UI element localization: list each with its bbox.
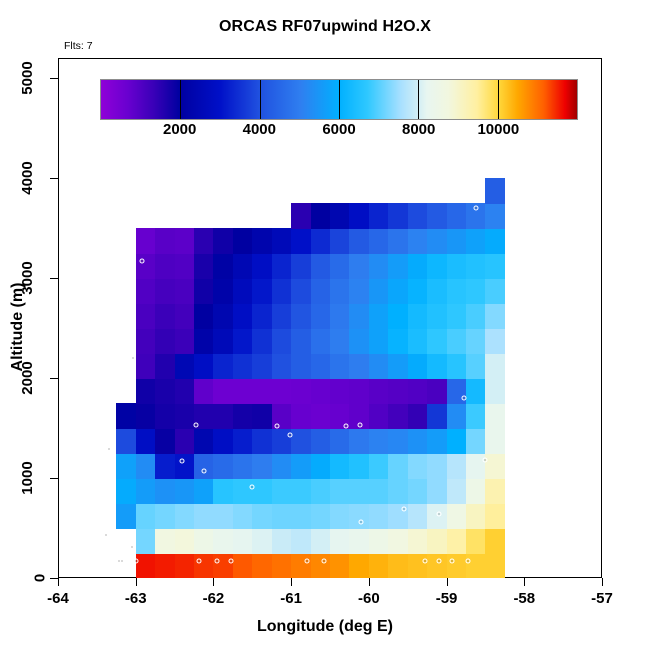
heatmap-cell: [136, 478, 156, 504]
heatmap-cell: [485, 178, 505, 204]
heatmap-cell: [252, 228, 272, 254]
heatmap-cell: [311, 378, 331, 404]
heatmap-cell: [233, 403, 253, 429]
heatmap-cell: [233, 253, 253, 279]
x-tick-mark: [58, 578, 59, 586]
heatmap-cell: [175, 503, 195, 529]
heatmap-cell: [311, 453, 331, 479]
colorbar: 200040006000800010000: [100, 79, 578, 120]
heatmap-cell: [408, 453, 428, 479]
heatmap-cell: [388, 353, 408, 379]
heatmap-cell: [291, 203, 311, 229]
heatmap-cell: [408, 203, 428, 229]
heatmap-cell: [408, 328, 428, 354]
heatmap-cell: [136, 278, 156, 304]
heatmap-cell: [388, 253, 408, 279]
heatmap-cell: [194, 228, 214, 254]
heatmap-cell: [233, 428, 253, 454]
heatmap-cell: [155, 303, 175, 329]
heatmap-cell: [252, 478, 272, 504]
heatmap-cell: [252, 503, 272, 529]
sample-point-marker: [133, 558, 138, 563]
heatmap-cell: [213, 553, 233, 578]
heatmap-cell: [349, 253, 369, 279]
y-tick-label-1000: 1000: [0, 470, 44, 487]
heatmap-cell: [252, 303, 272, 329]
heatmap-cell: [388, 403, 408, 429]
sample-point-marker: [275, 424, 280, 429]
y-tick-mark: [50, 478, 58, 479]
heatmap-cell: [291, 328, 311, 354]
heatmap-cell: [194, 428, 214, 454]
heatmap-cell: [388, 228, 408, 254]
heatmap-cell: [427, 353, 447, 379]
heatmap-cell: [466, 303, 486, 329]
heatmap-cell: [369, 278, 389, 304]
heatmap-cell: [408, 228, 428, 254]
heatmap-cell: [194, 453, 214, 479]
heatmap-cell: [272, 253, 292, 279]
heatmap-cell: [291, 403, 311, 429]
heatmap-cell: [252, 453, 272, 479]
heatmap-cell: [485, 528, 505, 554]
heatmap-cell: [388, 328, 408, 354]
heatmap-cell: [291, 528, 311, 554]
heatmap-cell: [447, 453, 467, 479]
heatmap-cell: [213, 228, 233, 254]
heatmap-cell: [369, 428, 389, 454]
heatmap-cell: [233, 278, 253, 304]
heatmap-cell: [136, 428, 156, 454]
heatmap-cell: [369, 328, 389, 354]
heatmap-cell: [272, 528, 292, 554]
heatmap-cell: [311, 203, 331, 229]
sample-point-marker: [474, 206, 479, 211]
heatmap-cell: [311, 553, 331, 578]
heatmap-cell: [330, 303, 350, 329]
sample-point-marker: [357, 423, 362, 428]
heatmap-cell: [330, 378, 350, 404]
colorbar-tick-labels: 200040006000800010000: [100, 121, 578, 143]
sample-point-marker: [129, 544, 134, 549]
heatmap-cell: [447, 528, 467, 554]
heatmap-cell: [252, 253, 272, 279]
heatmap-cell: [369, 478, 389, 504]
heatmap-cell: [116, 478, 136, 504]
heatmap-cell: [213, 453, 233, 479]
y-tick-label-4000: 4000: [0, 170, 44, 187]
heatmap-cell: [330, 503, 350, 529]
heatmap-cell: [466, 428, 486, 454]
heatmap-cell: [155, 528, 175, 554]
heatmap-cell: [349, 428, 369, 454]
sample-point-marker: [197, 558, 202, 563]
colorbar-separator-2: [339, 80, 340, 119]
sample-point-marker: [401, 507, 406, 512]
heatmap-cell: [466, 478, 486, 504]
heatmap-cell: [291, 378, 311, 404]
heatmap-cell: [427, 478, 447, 504]
heatmap-cell: [330, 253, 350, 279]
heatmap-cell: [252, 353, 272, 379]
y-tick-mark: [50, 278, 58, 279]
heatmap-cell: [252, 553, 272, 578]
heatmap-cell: [408, 353, 428, 379]
heatmap-cell: [427, 403, 447, 429]
heatmap-cell: [447, 303, 467, 329]
sample-point-marker: [422, 558, 427, 563]
y-tick-mark: [50, 78, 58, 79]
figure-canvas: ORCAS RF07upwind H2O.X Flts: 7 MMDD: 013…: [0, 0, 650, 650]
colorbar-separator-0: [180, 80, 181, 119]
heatmap-cell: [388, 478, 408, 504]
heatmap-cell: [136, 503, 156, 529]
heatmap-cell: [136, 253, 156, 279]
y-tick-label-0: 0: [0, 570, 44, 587]
heatmap-cell: [369, 453, 389, 479]
heatmap-cell: [213, 403, 233, 429]
heatmap-cell: [466, 278, 486, 304]
x-tick-label--64: -64: [47, 590, 69, 607]
heatmap-cell: [311, 278, 331, 304]
heatmap-cell: [447, 278, 467, 304]
heatmap-cell: [447, 478, 467, 504]
heatmap-cell: [252, 378, 272, 404]
heatmap-cell: [136, 328, 156, 354]
heatmap-cell: [427, 378, 447, 404]
heatmap-cell: [291, 503, 311, 529]
heatmap-cell: [272, 228, 292, 254]
y-tick-mark: [50, 578, 58, 579]
heatmap-cell: [272, 453, 292, 479]
heatmap-cell: [272, 328, 292, 354]
sample-point-marker: [202, 468, 207, 473]
sample-point-marker: [359, 520, 364, 525]
heatmap-cell: [485, 278, 505, 304]
heatmap-cell: [388, 278, 408, 304]
heatmap-cell: [330, 428, 350, 454]
x-tick-label--60: -60: [358, 590, 380, 607]
sample-point-marker: [304, 558, 309, 563]
heatmap-cell: [175, 378, 195, 404]
heatmap-cell: [272, 553, 292, 578]
heatmap-cell: [408, 278, 428, 304]
heatmap-cell: [388, 528, 408, 554]
heatmap-cell: [349, 503, 369, 529]
sample-point-marker: [483, 458, 488, 463]
heatmap-cell: [447, 428, 467, 454]
heatmap-cell: [194, 278, 214, 304]
x-tick-label--57: -57: [591, 590, 613, 607]
heatmap-cell: [349, 228, 369, 254]
colorbar-tick-6000: 6000: [322, 121, 355, 138]
heatmap-cell: [252, 403, 272, 429]
heatmap-cell: [136, 553, 156, 578]
heatmap-cell: [369, 228, 389, 254]
heatmap-cell: [311, 528, 331, 554]
heatmap-cell: [447, 403, 467, 429]
x-tick-label--63: -63: [125, 590, 147, 607]
heatmap-cell: [388, 553, 408, 578]
heatmap-cell: [194, 503, 214, 529]
heatmap-cell: [369, 528, 389, 554]
sample-point-marker: [321, 558, 326, 563]
heatmap-cell: [155, 253, 175, 279]
heatmap-cell: [291, 553, 311, 578]
sample-point-marker: [194, 423, 199, 428]
heatmap-cell: [408, 553, 428, 578]
heatmap-cell: [349, 203, 369, 229]
heatmap-cell: [155, 403, 175, 429]
x-tick-mark: [524, 578, 525, 586]
sample-point-marker: [131, 356, 136, 361]
heatmap-cell: [233, 553, 253, 578]
heatmap-cell: [388, 428, 408, 454]
heatmap-cell: [466, 353, 486, 379]
x-tick-label--62: -62: [203, 590, 225, 607]
heatmap-cell: [427, 328, 447, 354]
heatmap-cell: [427, 203, 447, 229]
heatmap-cell: [485, 478, 505, 504]
heatmap-cell: [427, 228, 447, 254]
heatmap-cell: [233, 378, 253, 404]
sample-point-marker: [343, 424, 348, 429]
heatmap-cell: [330, 328, 350, 354]
heatmap-cell: [427, 553, 447, 578]
x-tick-mark: [602, 578, 603, 586]
heatmap-cell: [233, 328, 253, 354]
heatmap-cell: [447, 328, 467, 354]
heatmap-cell: [116, 428, 136, 454]
heatmap-cell: [116, 453, 136, 479]
sample-point-marker: [465, 558, 470, 563]
heatmap-cell: [311, 228, 331, 254]
heatmap-cell: [175, 303, 195, 329]
colorbar-separator-1: [260, 80, 261, 119]
heatmap-cell: [155, 428, 175, 454]
heatmap-cell: [233, 478, 253, 504]
heatmap-cell: [349, 328, 369, 354]
heatmap-cell: [213, 278, 233, 304]
sample-point-marker: [250, 485, 255, 490]
heatmap-cell: [194, 553, 214, 578]
heatmap-cell: [194, 528, 214, 554]
heatmap-cell: [213, 353, 233, 379]
heatmap-cell: [427, 528, 447, 554]
heatmap-cell: [194, 478, 214, 504]
heatmap-cell: [485, 403, 505, 429]
heatmap-cell: [330, 228, 350, 254]
x-tick-label--59: -59: [436, 590, 458, 607]
heatmap-cell: [155, 328, 175, 354]
heatmap-cell: [408, 478, 428, 504]
sample-point-marker: [228, 558, 233, 563]
heatmap-cell: [291, 278, 311, 304]
heatmap-cell: [136, 453, 156, 479]
heatmap-cell: [330, 278, 350, 304]
heatmap-cell: [330, 478, 350, 504]
heatmap-cell: [485, 378, 505, 404]
sample-point-marker: [450, 558, 455, 563]
x-tick-label--61: -61: [280, 590, 302, 607]
heatmap-cell: [116, 503, 136, 529]
heatmap-cell: [447, 553, 467, 578]
heatmap-cell: [485, 228, 505, 254]
heatmap-cell: [272, 378, 292, 404]
heatmap-cell: [213, 378, 233, 404]
y-axis-title: Altitude (m): [9, 247, 27, 407]
heatmap-cell: [233, 453, 253, 479]
heatmap-cell: [136, 228, 156, 254]
heatmap-cell: [427, 253, 447, 279]
heatmap-cell: [194, 353, 214, 379]
heatmap-cell: [330, 453, 350, 479]
heatmap-cell: [233, 303, 253, 329]
heatmap-cell: [155, 353, 175, 379]
heatmap-cell: [213, 428, 233, 454]
y-tick-label-5000: 5000: [0, 70, 44, 87]
heatmap-cell: [330, 203, 350, 229]
heatmap-cell: [155, 278, 175, 304]
heatmap-cell: [291, 253, 311, 279]
heatmap-cell: [136, 353, 156, 379]
heatmap-cell: [388, 378, 408, 404]
heatmap-cell: [485, 203, 505, 229]
x-tick-mark: [447, 578, 448, 586]
heatmap-cell: [447, 228, 467, 254]
colorbar-tick-4000: 4000: [243, 121, 276, 138]
heatmap-cell: [213, 528, 233, 554]
heatmap-cell: [447, 253, 467, 279]
heatmap-cell: [349, 353, 369, 379]
sample-point-marker: [104, 533, 109, 538]
colorbar-tick-2000: 2000: [163, 121, 196, 138]
heatmap-cell: [330, 353, 350, 379]
heatmap-cell: [155, 478, 175, 504]
heatmap-cell: [349, 478, 369, 504]
heatmap-cell: [408, 303, 428, 329]
heatmap-cell: [272, 353, 292, 379]
heatmap-cell: [427, 428, 447, 454]
heatmap-cell: [427, 303, 447, 329]
sample-point-marker: [106, 447, 111, 452]
heatmap-cell: [155, 553, 175, 578]
sample-point-marker: [139, 258, 144, 263]
heatmap-cell: [466, 403, 486, 429]
heatmap-cell: [311, 353, 331, 379]
heatmap-cell: [485, 253, 505, 279]
colorbar-separator-3: [418, 80, 419, 119]
heatmap-cell: [408, 428, 428, 454]
heatmap-cell: [252, 328, 272, 354]
heatmap-cell: [330, 528, 350, 554]
heatmap-cell: [175, 428, 195, 454]
heatmap-cell: [116, 403, 136, 429]
heatmap-cell: [194, 303, 214, 329]
heatmap-cell: [311, 303, 331, 329]
heatmap-cell: [155, 228, 175, 254]
heatmap-cell: [194, 328, 214, 354]
heatmap-cell: [369, 253, 389, 279]
heatmap-cell: [485, 328, 505, 354]
heatmap-cell: [447, 353, 467, 379]
heatmap-cell: [408, 503, 428, 529]
heatmap-cell: [369, 503, 389, 529]
x-tick-label--58: -58: [513, 590, 535, 607]
heatmap-cell: [466, 528, 486, 554]
sample-point-marker: [215, 558, 220, 563]
heatmap-cell: [252, 278, 272, 304]
heatmap-cell: [252, 528, 272, 554]
heatmap-cell: [252, 428, 272, 454]
heatmap-cell: [466, 378, 486, 404]
heatmap-cell: [136, 303, 156, 329]
heatmap-cell: [194, 253, 214, 279]
heatmap-cell: [485, 453, 505, 479]
heatmap-cell: [349, 528, 369, 554]
heatmap-cell: [447, 503, 467, 529]
heatmap-cell: [175, 353, 195, 379]
heatmap-cell: [272, 278, 292, 304]
heatmap-cell: [408, 528, 428, 554]
heatmap-cell: [272, 478, 292, 504]
heatmap-cell: [447, 203, 467, 229]
heatmap-cell: [466, 553, 486, 578]
x-tick-mark: [291, 578, 292, 586]
heatmap-cell: [194, 378, 214, 404]
heatmap-cell: [388, 303, 408, 329]
sample-point-marker: [462, 396, 467, 401]
heatmap-cell: [291, 303, 311, 329]
heatmap-cell: [213, 478, 233, 504]
heatmap-cell: [213, 328, 233, 354]
heatmap-cell: [175, 528, 195, 554]
x-tick-mark: [213, 578, 214, 586]
heatmap-cell: [349, 278, 369, 304]
heatmap-cell: [427, 278, 447, 304]
heatmap-cell: [311, 478, 331, 504]
heatmap-cell: [311, 428, 331, 454]
heatmap-cell: [369, 378, 389, 404]
heatmap-cell: [175, 478, 195, 504]
heatmap-cell: [369, 553, 389, 578]
heatmap-cell: [175, 253, 195, 279]
heatmap-cell: [155, 378, 175, 404]
heatmap-cell: [213, 503, 233, 529]
heatmap-cell: [213, 303, 233, 329]
heatmap-cell: [175, 278, 195, 304]
heatmap-cell: [311, 328, 331, 354]
heatmap-cell: [136, 528, 156, 554]
heatmap-cell: [136, 403, 156, 429]
heatmap-cell: [369, 303, 389, 329]
heatmap-cell: [466, 503, 486, 529]
heatmap-cell: [466, 228, 486, 254]
heatmap-cell: [485, 428, 505, 454]
heatmap-cell: [175, 328, 195, 354]
colorbar-separator-4: [498, 80, 499, 119]
heatmap-cell: [349, 378, 369, 404]
heatmap-cell: [175, 453, 195, 479]
heatmap-cell: [427, 453, 447, 479]
heatmap-cell: [466, 453, 486, 479]
sample-point-marker: [436, 558, 441, 563]
heatmap-cell: [408, 403, 428, 429]
heatmap-cell: [466, 253, 486, 279]
heatmap-cell: [369, 203, 389, 229]
heatmap-cell: [272, 503, 292, 529]
heatmap-cell: [291, 478, 311, 504]
